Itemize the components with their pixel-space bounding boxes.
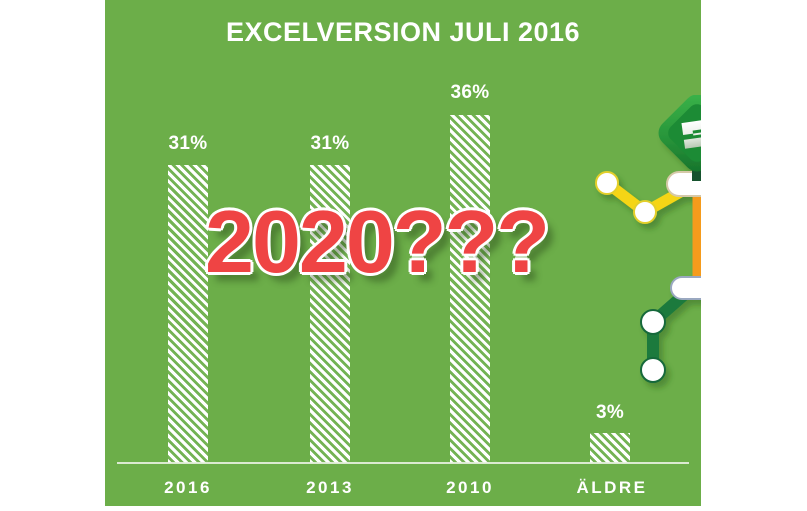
bar-value-2016: 31% <box>143 133 233 155</box>
bar-value-2010: 36% <box>425 82 515 104</box>
bar-2016 <box>168 165 208 463</box>
axis-label-aldre: ÄLDRE <box>552 478 672 498</box>
axis-label-2013: 2013 <box>270 478 390 498</box>
screenshot-canvas: EXCELVERSION JULI 2016 31% 31% 36% 3% 20… <box>0 0 807 511</box>
chart-panel: EXCELVERSION JULI 2016 31% 31% 36% 3% 20… <box>105 0 701 506</box>
overlay-annotation-2020: 2020??? <box>205 198 625 286</box>
bar-aldre <box>590 433 630 463</box>
axis-label-2010: 2010 <box>410 478 530 498</box>
x-axis-line <box>117 462 689 464</box>
bar-value-2013: 31% <box>285 133 375 155</box>
axis-label-2016: 2016 <box>128 478 248 498</box>
bar-value-aldre: 3% <box>565 402 655 424</box>
